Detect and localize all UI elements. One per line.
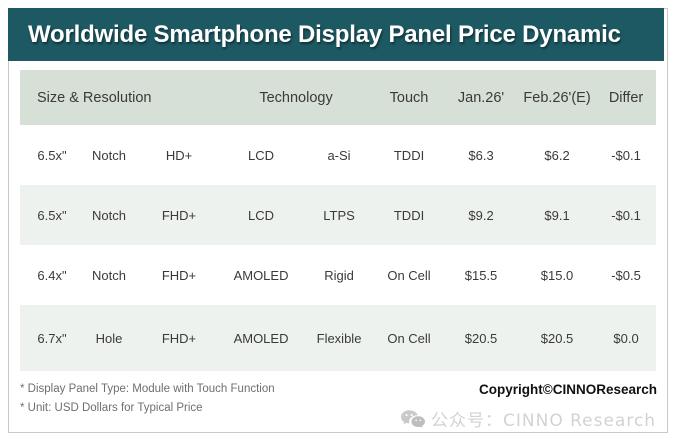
- cell-touch: TDDI: [374, 185, 444, 245]
- cell-feb26e: $15.0: [518, 245, 596, 305]
- cell-size: 6.4x": [20, 245, 78, 305]
- cell-differ: -$0.5: [596, 245, 656, 305]
- cell-backplane: Flexible: [304, 305, 374, 371]
- page-title: Worldwide Smartphone Display Panel Price…: [28, 21, 621, 49]
- cell-technology: AMOLED: [218, 245, 304, 305]
- cell-resolution: FHD+: [140, 185, 218, 245]
- table-header-row: Size & Resolution Technology Touch Jan.2…: [20, 70, 656, 125]
- cell-touch: TDDI: [374, 125, 444, 185]
- watermark-label: 公众号：CINNO Research: [431, 406, 656, 431]
- cell-differ: -$0.1: [596, 125, 656, 185]
- column-header-feb26e: Feb.26'(E): [518, 70, 596, 125]
- cell-size: 6.7x": [20, 305, 78, 371]
- title-bar: Worldwide Smartphone Display Panel Price…: [8, 8, 664, 61]
- footnotes: * Display Panel Type: Module with Touch …: [20, 380, 275, 418]
- cell-touch: On Cell: [374, 305, 444, 371]
- cell-feb26e: $9.1: [518, 185, 596, 245]
- cell-jan26: $15.5: [444, 245, 518, 305]
- cell-resolution: HD+: [140, 125, 218, 185]
- footnote-unit: * Unit: USD Dollars for Typical Price: [20, 399, 275, 418]
- table-row: 6.4x" Notch FHD+ AMOLED Rigid On Cell $1…: [20, 245, 656, 305]
- cell-size: 6.5x": [20, 185, 78, 245]
- cell-size: 6.5x": [20, 125, 78, 185]
- cell-backplane: Rigid: [304, 245, 374, 305]
- wechat-icon: [400, 409, 426, 429]
- column-header-technology: Technology: [218, 70, 374, 125]
- cell-jan26: $20.5: [444, 305, 518, 371]
- cell-technology: AMOLED: [218, 305, 304, 371]
- table-row: 6.5x" Notch HD+ LCD a-Si TDDI $6.3 $6.2 …: [20, 125, 656, 185]
- cell-backplane: a-Si: [304, 125, 374, 185]
- price-table: Size & Resolution Technology Touch Jan.2…: [20, 70, 656, 371]
- cell-cutout: Notch: [78, 245, 140, 305]
- cell-jan26: $9.2: [444, 185, 518, 245]
- column-header-differ: Differ: [596, 70, 656, 125]
- cell-backplane: LTPS: [304, 185, 374, 245]
- table-row: 6.7x" Hole FHD+ AMOLED Flexible On Cell …: [20, 305, 656, 371]
- cell-cutout: Hole: [78, 305, 140, 371]
- cell-resolution: FHD+: [140, 305, 218, 371]
- cell-feb26e: $20.5: [518, 305, 596, 371]
- cell-differ: $0.0: [596, 305, 656, 371]
- cell-feb26e: $6.2: [518, 125, 596, 185]
- copyright-text: Copyright©CINNOResearch: [479, 382, 657, 397]
- table-row: 6.5x" Notch FHD+ LCD LTPS TDDI $9.2 $9.1…: [20, 185, 656, 245]
- column-header-touch: Touch: [374, 70, 444, 125]
- footnote-panel-type: * Display Panel Type: Module with Touch …: [20, 380, 275, 399]
- cell-cutout: Notch: [78, 185, 140, 245]
- cell-technology: LCD: [218, 125, 304, 185]
- column-header-size-resolution: Size & Resolution: [20, 70, 218, 125]
- cell-technology: LCD: [218, 185, 304, 245]
- cell-differ: -$0.1: [596, 185, 656, 245]
- column-header-jan26: Jan.26': [444, 70, 518, 125]
- wechat-watermark: 公众号：CINNO Research: [400, 406, 656, 431]
- cell-resolution: FHD+: [140, 245, 218, 305]
- cell-touch: On Cell: [374, 245, 444, 305]
- cell-cutout: Notch: [78, 125, 140, 185]
- price-table-infographic: Worldwide Smartphone Display Panel Price…: [0, 0, 675, 443]
- cell-jan26: $6.3: [444, 125, 518, 185]
